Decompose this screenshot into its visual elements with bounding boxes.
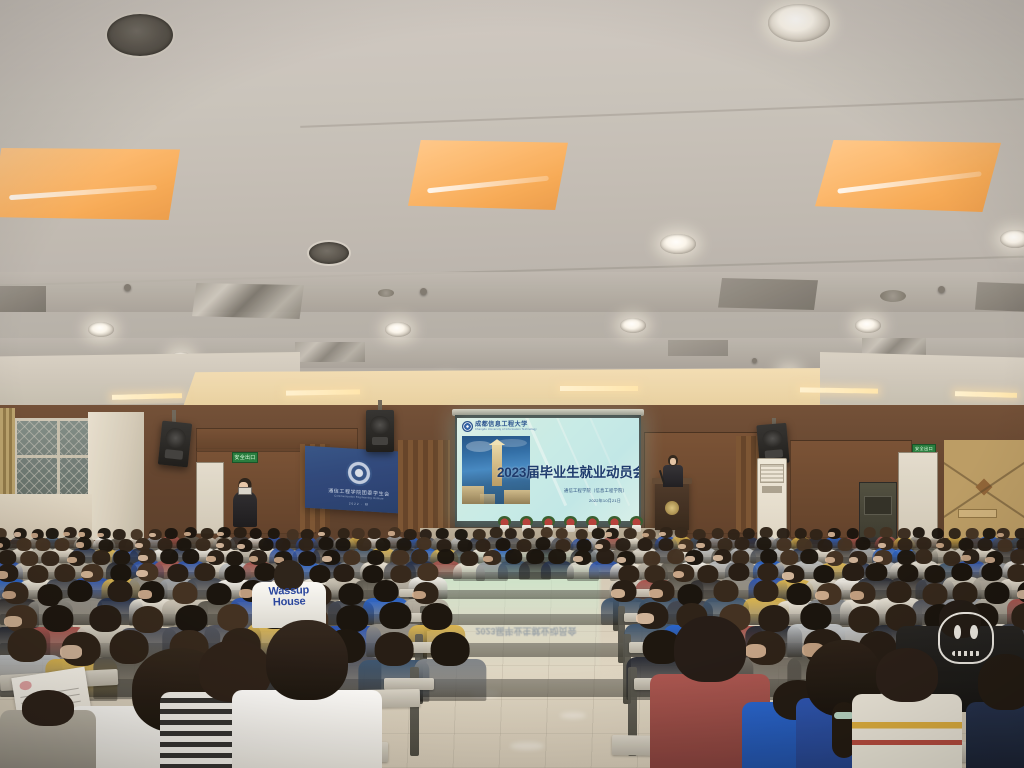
ceiling-light-strip-3 <box>560 386 638 391</box>
foreground-attendee-grey-hoodie <box>0 690 96 768</box>
shirt-graphic-line2: House <box>260 596 318 609</box>
ceiling-vent-2 <box>975 282 1024 312</box>
foreground-attendee-white-shirt-center <box>232 620 382 768</box>
slide-date: 2022年10月21日 <box>589 498 621 504</box>
ceiling-access-panel-2 <box>295 342 365 362</box>
desk-tablet[interactable] <box>384 678 434 690</box>
held-phone <box>238 487 252 495</box>
sprinkler-head-4 <box>752 358 757 363</box>
standing-attendee-with-phone <box>232 478 258 526</box>
podium-emblem <box>665 501 679 515</box>
ceiling-vent-1 <box>718 278 818 310</box>
smoke-detector-2 <box>378 289 394 297</box>
recessed-downlight-bright-8 <box>855 318 881 333</box>
ceiling-light-panel-left <box>0 148 180 220</box>
slide-subtitle: 通信工程学院（信息工程学院） <box>564 488 627 494</box>
foreground-attendee-far-right <box>966 654 1024 768</box>
university-seal-icon <box>462 421 473 432</box>
ceiling-vent-3 <box>0 286 46 312</box>
slide-main-title: 2023届毕业生就业动员会 <box>497 466 639 480</box>
recessed-downlight-bright-7 <box>620 318 646 333</box>
ceiling-access-panel-1 <box>192 283 304 319</box>
recessed-downlight-bright-6 <box>385 322 411 337</box>
shirt-graphic-text: Wassup House <box>260 585 319 609</box>
slide-university-name-en: Chengdu University of Information Techno… <box>475 429 537 432</box>
pa-speaker-left <box>158 421 192 468</box>
projected-slide: 成都信息工程大学 Chengdu University of Informati… <box>457 418 639 521</box>
ceiling-coffer-right <box>820 352 1024 408</box>
sprinkler-head-1 <box>420 288 427 295</box>
decorative-lattice-panel <box>944 440 1024 538</box>
smoke-detector-1 <box>880 290 906 302</box>
auditorium-photo: 安全出口 通信工程学院团委学生会 Communication Engineeri… <box>0 0 1024 768</box>
department-flag-banner: 通信工程学院团委学生会 Communication Engineering In… <box>305 446 413 515</box>
ceiling-light-panel-center <box>408 140 568 210</box>
side-door-left <box>196 462 224 534</box>
pa-speaker-center <box>366 410 394 452</box>
recessed-downlight-dark-2 <box>307 240 351 266</box>
structural-column <box>88 412 144 540</box>
exit-sign-left: 安全出口 <box>232 452 258 463</box>
recessed-downlight-dark-1 <box>105 12 175 58</box>
ceiling-vent-4 <box>668 340 728 356</box>
ceiling-light-panel-right <box>815 140 1001 212</box>
slide-university-logo: 成都信息工程大学 Chengdu University of Informati… <box>462 421 537 432</box>
ceiling-access-panel-3 <box>862 338 926 356</box>
recessed-downlight-bright-4 <box>88 322 114 337</box>
flag-emblem <box>346 459 372 487</box>
slide-university-name: 成都信息工程大学 Chengdu University of Informati… <box>475 422 537 432</box>
recessed-downlight-bright-3 <box>1000 230 1024 248</box>
wall-slats-center-left <box>398 440 450 532</box>
hair-tie <box>834 712 854 719</box>
sprinkler-head-3 <box>124 284 131 291</box>
foreground-attendee-stripe-sweater <box>852 648 962 768</box>
recessed-downlight-bright-2 <box>660 234 696 254</box>
sprinkler-head-2 <box>938 286 945 293</box>
presenter <box>662 455 684 487</box>
ceiling-coffer-warm-center <box>182 368 842 410</box>
recessed-downlight-bright-1 <box>768 4 830 42</box>
ceiling <box>0 0 1024 418</box>
